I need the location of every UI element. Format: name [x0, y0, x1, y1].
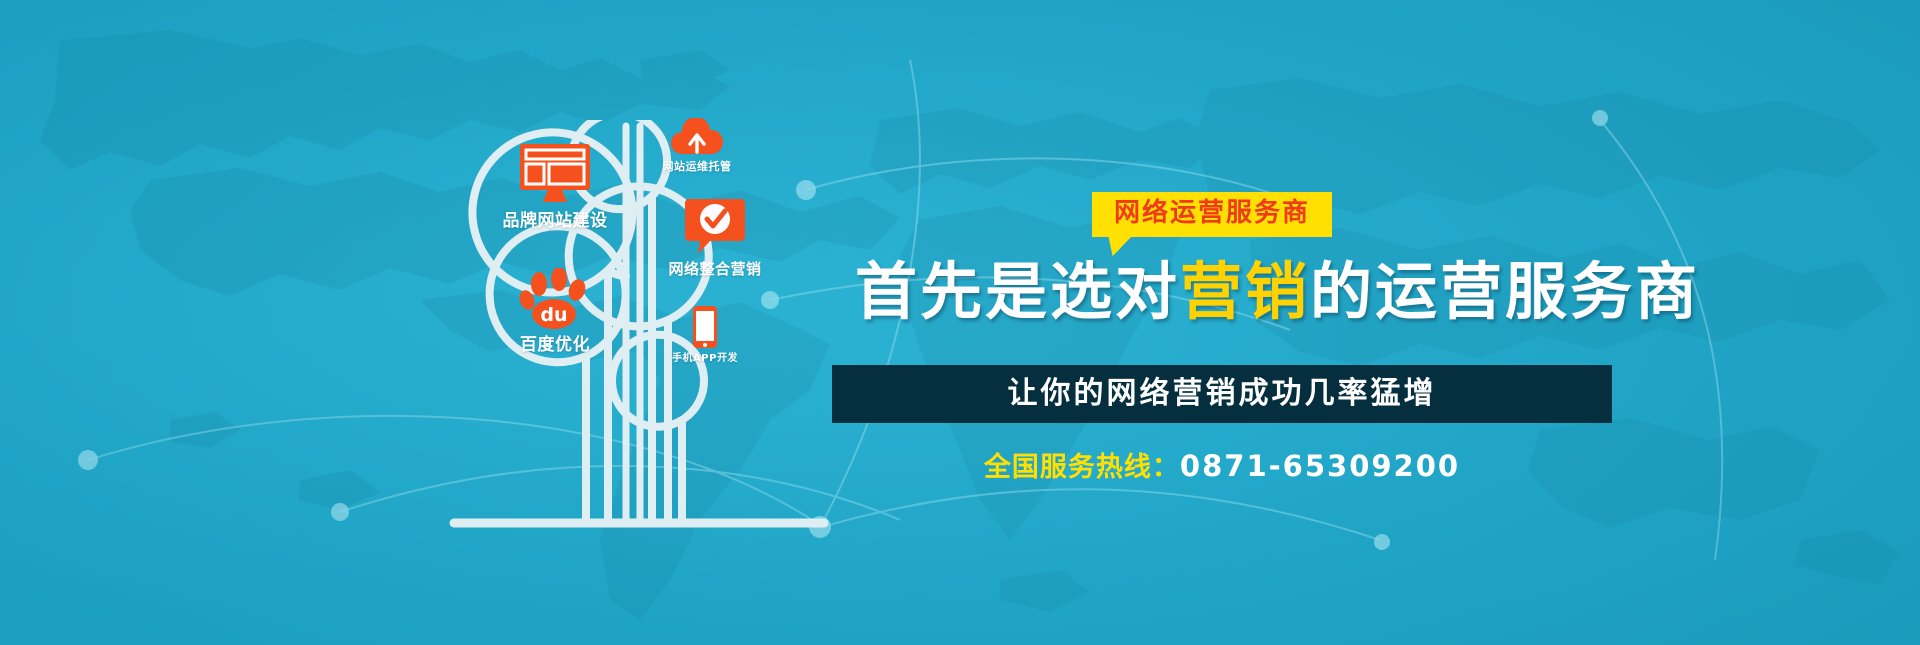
tree-node-brand-site[interactable]: 品牌网站建设	[460, 142, 650, 230]
tree-node-site-ops[interactable]: 网站运维托管	[632, 118, 762, 172]
tree-node-app-dev[interactable]: 手机APP开发	[640, 305, 770, 364]
headline-part1: 首先是选对	[855, 255, 1180, 328]
tree-node-label: 网站运维托管	[663, 161, 732, 172]
baidu-paw-icon: du	[519, 268, 591, 330]
cloud-upload-icon	[670, 118, 724, 156]
tree-node-label: 品牌网站建设	[503, 213, 608, 230]
headline-highlight: 营销	[1180, 255, 1310, 328]
headline-part2: 的运营服务商	[1310, 255, 1700, 328]
page-title: 首先是选对营销的运营服务商	[855, 258, 1615, 326]
service-tree-graphic: 品牌网站建设 网站运维托管 网络整合营销	[440, 120, 860, 540]
tree-node-label: 百度优化	[520, 337, 590, 354]
hotline-label: 全国服务热线：	[984, 452, 1180, 483]
tree-node-label: 网络整合营销	[668, 262, 761, 277]
hotline-row: 全国服务热线：0871-65309200	[832, 452, 1612, 481]
monitor-icon	[518, 142, 592, 204]
tagline-badge: 网络运营服务商	[1092, 192, 1332, 237]
smartphone-icon	[692, 305, 718, 349]
subtitle-bar: 让你的网络营销成功几率猛增	[832, 365, 1612, 423]
hotline-number[interactable]: 0871-65309200	[1180, 449, 1460, 483]
tree-node-label: 手机APP开发	[672, 354, 738, 364]
tree-node-integrated-marketing[interactable]: 网络整合营销	[635, 197, 795, 277]
baidu-icon-text: du	[540, 304, 567, 326]
subtitle-text: 让你的网络营销成功几率猛增	[1008, 379, 1437, 409]
tree-node-baidu-seo[interactable]: du 百度优化	[470, 268, 640, 354]
promo-banner: 品牌网站建设 网站运维托管 网络整合营销	[0, 0, 1920, 645]
check-bubble-icon	[684, 197, 746, 255]
